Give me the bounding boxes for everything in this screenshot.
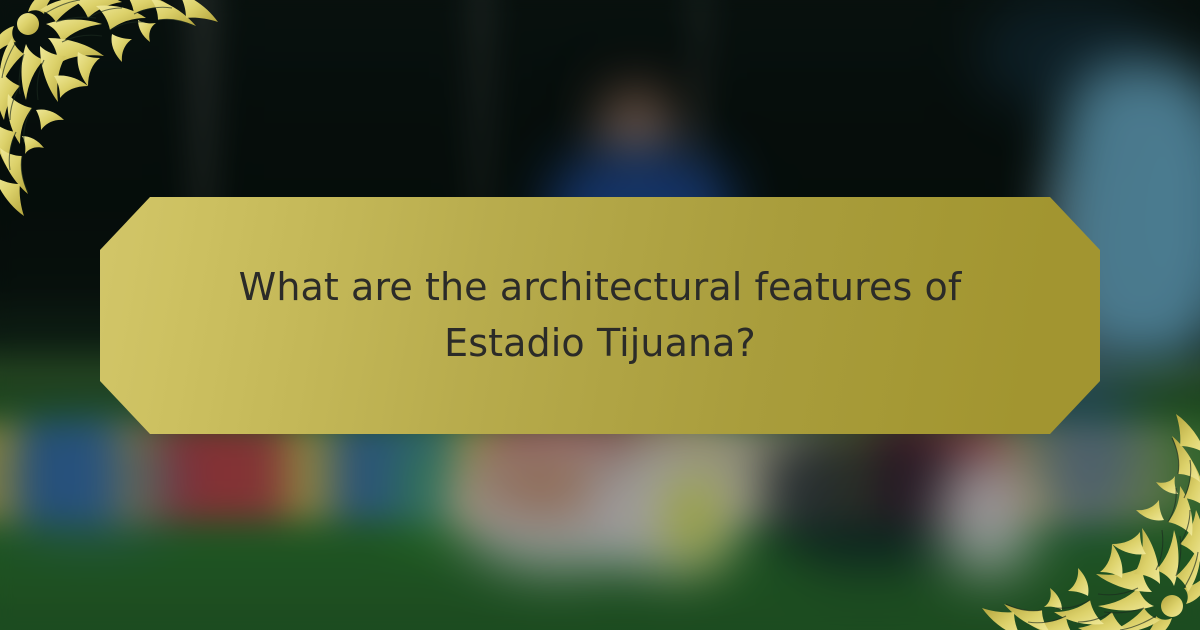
question-banner: What are the architectural features of E… — [100, 197, 1100, 434]
page-title: What are the architectural features of E… — [169, 260, 1032, 370]
question-card: What are the architectural features of E… — [0, 0, 1200, 630]
